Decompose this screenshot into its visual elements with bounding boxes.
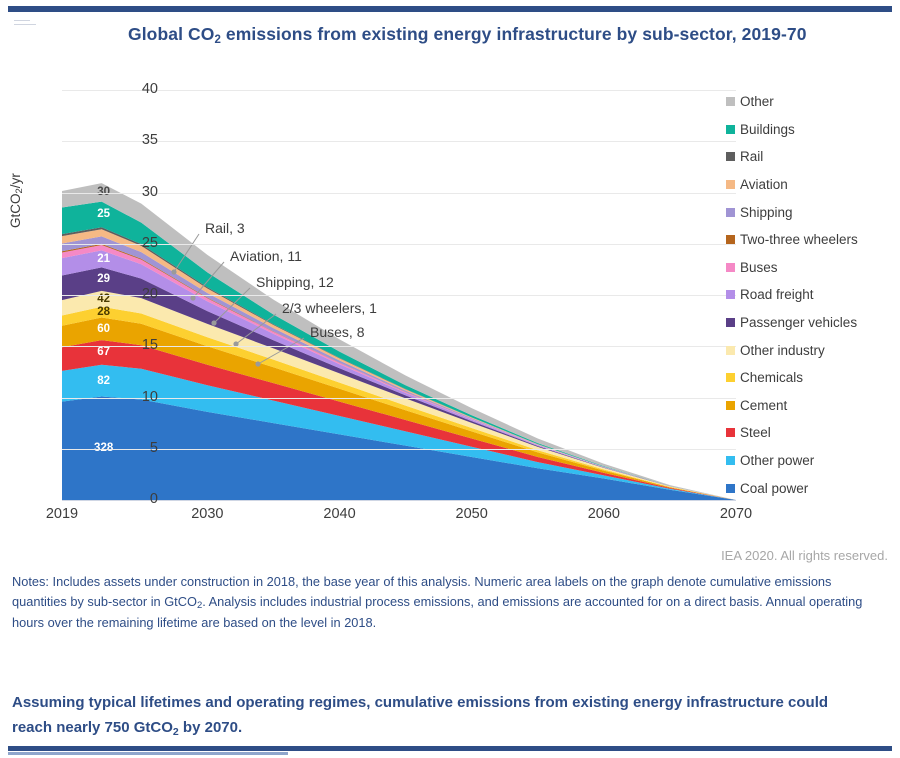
- leader-anchor-dot: [211, 320, 216, 325]
- legend-item-rail[interactable]: Rail: [726, 143, 900, 171]
- leader-anchor-dot: [190, 295, 195, 300]
- legend-swatch-icon: [726, 428, 735, 437]
- legend-label: Other industry: [740, 343, 825, 358]
- y-axis-tick-5: 5: [126, 440, 158, 456]
- legend-label: Buildings: [740, 122, 795, 137]
- legend-item-road-freight[interactable]: Road freight: [726, 281, 900, 309]
- legend-item-two-three-wheelers[interactable]: Two-three wheelers: [726, 226, 900, 254]
- y-axis-tick-0: 0: [126, 491, 158, 507]
- legend-label: Other: [740, 94, 774, 109]
- legend-swatch-icon: [726, 152, 735, 161]
- gridline: [62, 346, 736, 347]
- legend-swatch-icon: [726, 484, 735, 493]
- callout-label-2-3-wheelers-1: 2/3 wheelers, 1: [282, 300, 377, 316]
- legend-item-other[interactable]: Other: [726, 88, 900, 116]
- legend-swatch-icon: [726, 456, 735, 465]
- legend-item-other-power[interactable]: Other power: [726, 447, 900, 475]
- legend-label: Road freight: [740, 287, 814, 302]
- callout-label-buses-8: Buses, 8: [310, 324, 364, 340]
- legend-swatch-icon: [726, 125, 735, 134]
- x-axis-tick-2030: 2030: [177, 506, 237, 522]
- y-axis-tick-25: 25: [126, 235, 158, 251]
- conclusion-text-b: by 2070.: [179, 719, 242, 736]
- copyright-credit: IEA 2020. All rights reserved.: [721, 548, 888, 563]
- conclusion-text-a: Assuming typical lifetimes and operating…: [12, 694, 828, 736]
- legend-swatch-icon: [726, 318, 735, 327]
- y-axis-tick-10: 10: [126, 389, 158, 405]
- page-title-text-a: Global CO: [128, 24, 214, 44]
- legend-item-chemicals[interactable]: Chemicals: [726, 364, 900, 392]
- gridline: [62, 500, 736, 501]
- page-title-text-b: emissions from existing energy infrastru…: [221, 24, 807, 44]
- leader-anchor-dot: [171, 269, 176, 274]
- y-axis-tick-35: 35: [126, 132, 158, 148]
- notes-subscript: 2: [197, 600, 202, 611]
- legend-item-cement[interactable]: Cement: [726, 392, 900, 420]
- legend-label: Chemicals: [740, 370, 803, 385]
- legend-label: Shipping: [740, 205, 793, 220]
- legend-label: Two-three wheelers: [740, 232, 858, 247]
- legend-label: Rail: [740, 149, 763, 164]
- legend-item-aviation[interactable]: Aviation: [726, 171, 900, 199]
- legend-swatch-icon: [726, 401, 735, 410]
- legend-swatch-icon: [726, 263, 735, 272]
- x-axis-tick-2019: 2019: [32, 506, 92, 522]
- gridline: [62, 398, 736, 399]
- legend-swatch-icon: [726, 373, 735, 382]
- gridline: [62, 141, 736, 142]
- legend-label: Aviation: [740, 177, 788, 192]
- x-axis-tick-2060: 2060: [574, 506, 634, 522]
- legend-item-buildings[interactable]: Buildings: [726, 116, 900, 144]
- gridline: [62, 295, 736, 296]
- chart-legend: OtherBuildingsRailAviationShippingTwo-th…: [726, 88, 900, 502]
- legend-label: Coal power: [740, 481, 808, 496]
- top-accent-bar: [8, 6, 892, 12]
- callout-label-rail-3: Rail, 3: [205, 220, 245, 236]
- legend-swatch-icon: [726, 97, 735, 106]
- legend-item-shipping[interactable]: Shipping: [726, 198, 900, 226]
- legend-label: Passenger vehicles: [740, 315, 857, 330]
- bottom-accent-bar-secondary: [8, 752, 288, 755]
- notes-paragraph: Notes: Includes assets under constructio…: [12, 572, 888, 633]
- page-title-subscript: 2: [214, 34, 221, 46]
- bottom-accent-bar: [8, 746, 892, 751]
- leader-line: [236, 314, 276, 344]
- legend-label: Cement: [740, 398, 787, 413]
- legend-item-buses[interactable]: Buses: [726, 254, 900, 282]
- legend-item-passenger-vehicles[interactable]: Passenger vehicles: [726, 309, 900, 337]
- legend-swatch-icon: [726, 180, 735, 189]
- leader-line: [214, 288, 250, 323]
- legend-label: Buses: [740, 260, 778, 275]
- leader-line: [193, 262, 224, 298]
- x-axis-tick-2040: 2040: [310, 506, 370, 522]
- conclusion-subscript: 2: [173, 726, 179, 738]
- legend-item-other-industry[interactable]: Other industry: [726, 336, 900, 364]
- x-axis-tick-2050: 2050: [442, 506, 502, 522]
- legend-label: Other power: [740, 453, 814, 468]
- legend-item-coal-power[interactable]: Coal power: [726, 474, 900, 502]
- legend-label: Steel: [740, 425, 771, 440]
- legend-swatch-icon: [726, 290, 735, 299]
- conclusion-statement: Assuming typical lifetimes and operating…: [12, 690, 872, 742]
- leader-anchor-dot: [255, 361, 260, 366]
- gridline: [62, 244, 736, 245]
- y-axis-tick-20: 20: [126, 286, 158, 302]
- y-axis-tick-40: 40: [126, 81, 158, 97]
- y-axis-tick-30: 30: [126, 184, 158, 200]
- callout-label-shipping-12: Shipping, 12: [256, 274, 334, 290]
- corner-watermark: [14, 20, 40, 30]
- leader-line: [174, 234, 199, 272]
- legend-swatch-icon: [726, 346, 735, 355]
- y-axis-label: GtCO2/yr: [8, 173, 23, 228]
- legend-swatch-icon: [726, 208, 735, 217]
- gridline: [62, 449, 736, 450]
- leader-line: [258, 338, 304, 364]
- y-axis-tick-15: 15: [126, 337, 158, 353]
- gridline: [62, 90, 736, 91]
- page-title: Global CO2 emissions from existing energ…: [128, 22, 848, 50]
- callout-label-aviation-11: Aviation, 11: [230, 248, 302, 264]
- legend-swatch-icon: [726, 235, 735, 244]
- legend-item-steel[interactable]: Steel: [726, 419, 900, 447]
- gridline: [62, 193, 736, 194]
- x-axis-tick-2070: 2070: [706, 506, 766, 522]
